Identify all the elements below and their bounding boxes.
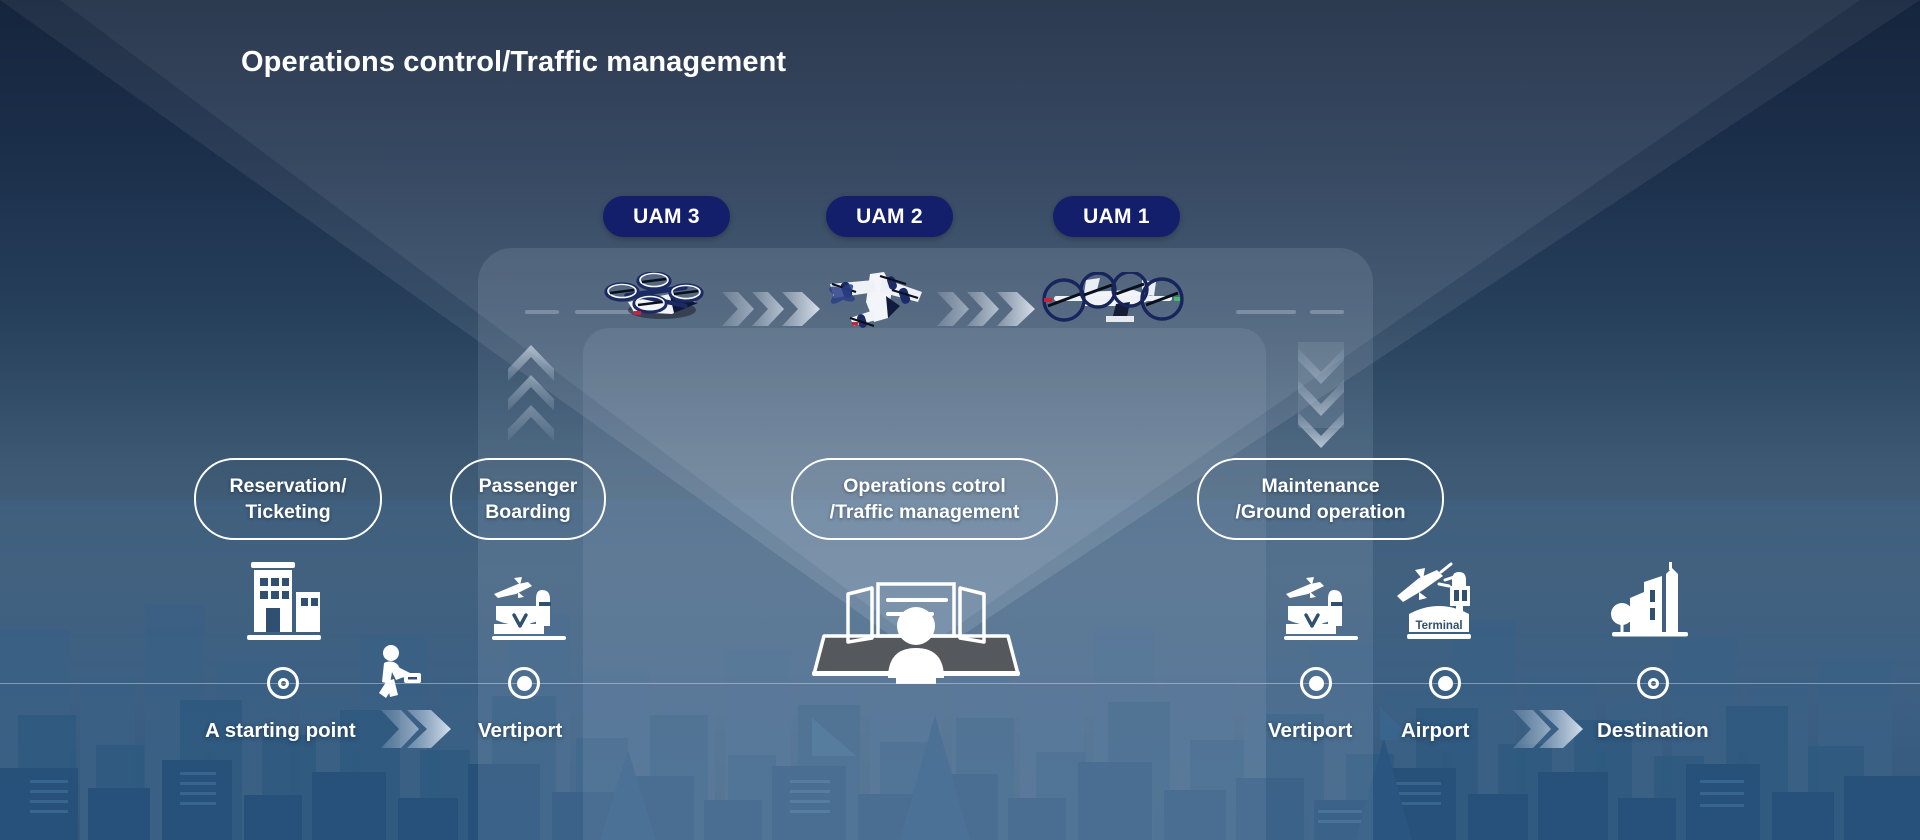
- badge-uam-2[interactable]: UAM 2: [826, 196, 953, 237]
- destination-city-icon: [1610, 552, 1692, 644]
- airport-terminal-label: Terminal: [1415, 620, 1462, 632]
- page-title: Operations control/Traffic management: [241, 46, 786, 79]
- stage-pill-line1: Operations cotrol: [843, 473, 1006, 499]
- stage-pill-line2: /Ground operation: [1235, 499, 1405, 525]
- stage-pill-maintenance[interactable]: Maintenance /Ground operation: [1197, 458, 1444, 540]
- stage-pill-line2: Ticketing: [245, 499, 330, 525]
- timeline-dot-a-starting-point[interactable]: [267, 667, 299, 699]
- flow-arrow-2: [937, 292, 1047, 326]
- timeline-dot-vertiport-departure[interactable]: [508, 667, 540, 699]
- flow-arrow-1: [722, 292, 832, 326]
- vertiport-icon: [1280, 568, 1364, 644]
- dot-core: [1309, 676, 1324, 691]
- pedestrian-icon: [368, 645, 424, 707]
- walk-arrow-start: [381, 710, 453, 748]
- descend-chevron-stack: [1298, 342, 1344, 450]
- ascend-chevron-stack: [508, 345, 554, 445]
- multirotor-evtol-icon: [1038, 272, 1186, 326]
- badge-uam-1[interactable]: UAM 1: [1053, 196, 1180, 237]
- stage-pill-line1: Maintenance: [1261, 473, 1379, 499]
- stop-label-vertiport-arrival: Vertiport: [1268, 719, 1352, 743]
- timeline-dot-vertiport-arrival[interactable]: [1300, 667, 1332, 699]
- quadcopter-evtol-icon: [600, 272, 720, 324]
- stage-pill-line1: Passenger: [479, 473, 578, 499]
- stop-label-airport: Airport: [1401, 719, 1469, 743]
- infographic-canvas: Operations control/Traffic management: [0, 0, 1920, 840]
- badge-uam-3[interactable]: UAM 3: [603, 196, 730, 237]
- walk-arrow-end: [1513, 710, 1585, 748]
- vertiport-icon: [488, 568, 572, 644]
- stage-pill-operations[interactable]: Operations cotrol /Traffic management: [791, 458, 1058, 540]
- dot-core: [278, 678, 289, 689]
- fixedwing-evtol-icon: [822, 262, 932, 330]
- stage-pill-line2: Boarding: [485, 499, 571, 525]
- corridor-tick: [1236, 310, 1296, 314]
- stop-label-destination: Destination: [1597, 719, 1709, 743]
- corridor-tick: [1310, 310, 1344, 314]
- dot-core: [1438, 676, 1453, 691]
- corridor-tick: [525, 310, 559, 314]
- timeline-dot-airport[interactable]: [1429, 667, 1461, 699]
- operations-control-desk-icon: [810, 578, 1022, 684]
- stage-pill-line2: /Traffic management: [830, 499, 1020, 525]
- dot-core: [517, 676, 532, 691]
- office-building-icon: [245, 558, 325, 644]
- stop-label-vertiport-departure: Vertiport: [478, 719, 562, 743]
- stage-pill-boarding[interactable]: Passenger Boarding: [450, 458, 606, 540]
- stage-pill-reservation[interactable]: Reservation/ Ticketing: [194, 458, 382, 540]
- dot-core: [1648, 678, 1659, 689]
- airport-terminal-icon: Terminal: [1393, 558, 1483, 644]
- stop-label-a-starting-point: A starting point: [205, 719, 356, 743]
- timeline-dot-destination[interactable]: [1637, 667, 1669, 699]
- stage-pill-line1: Reservation/: [229, 473, 346, 499]
